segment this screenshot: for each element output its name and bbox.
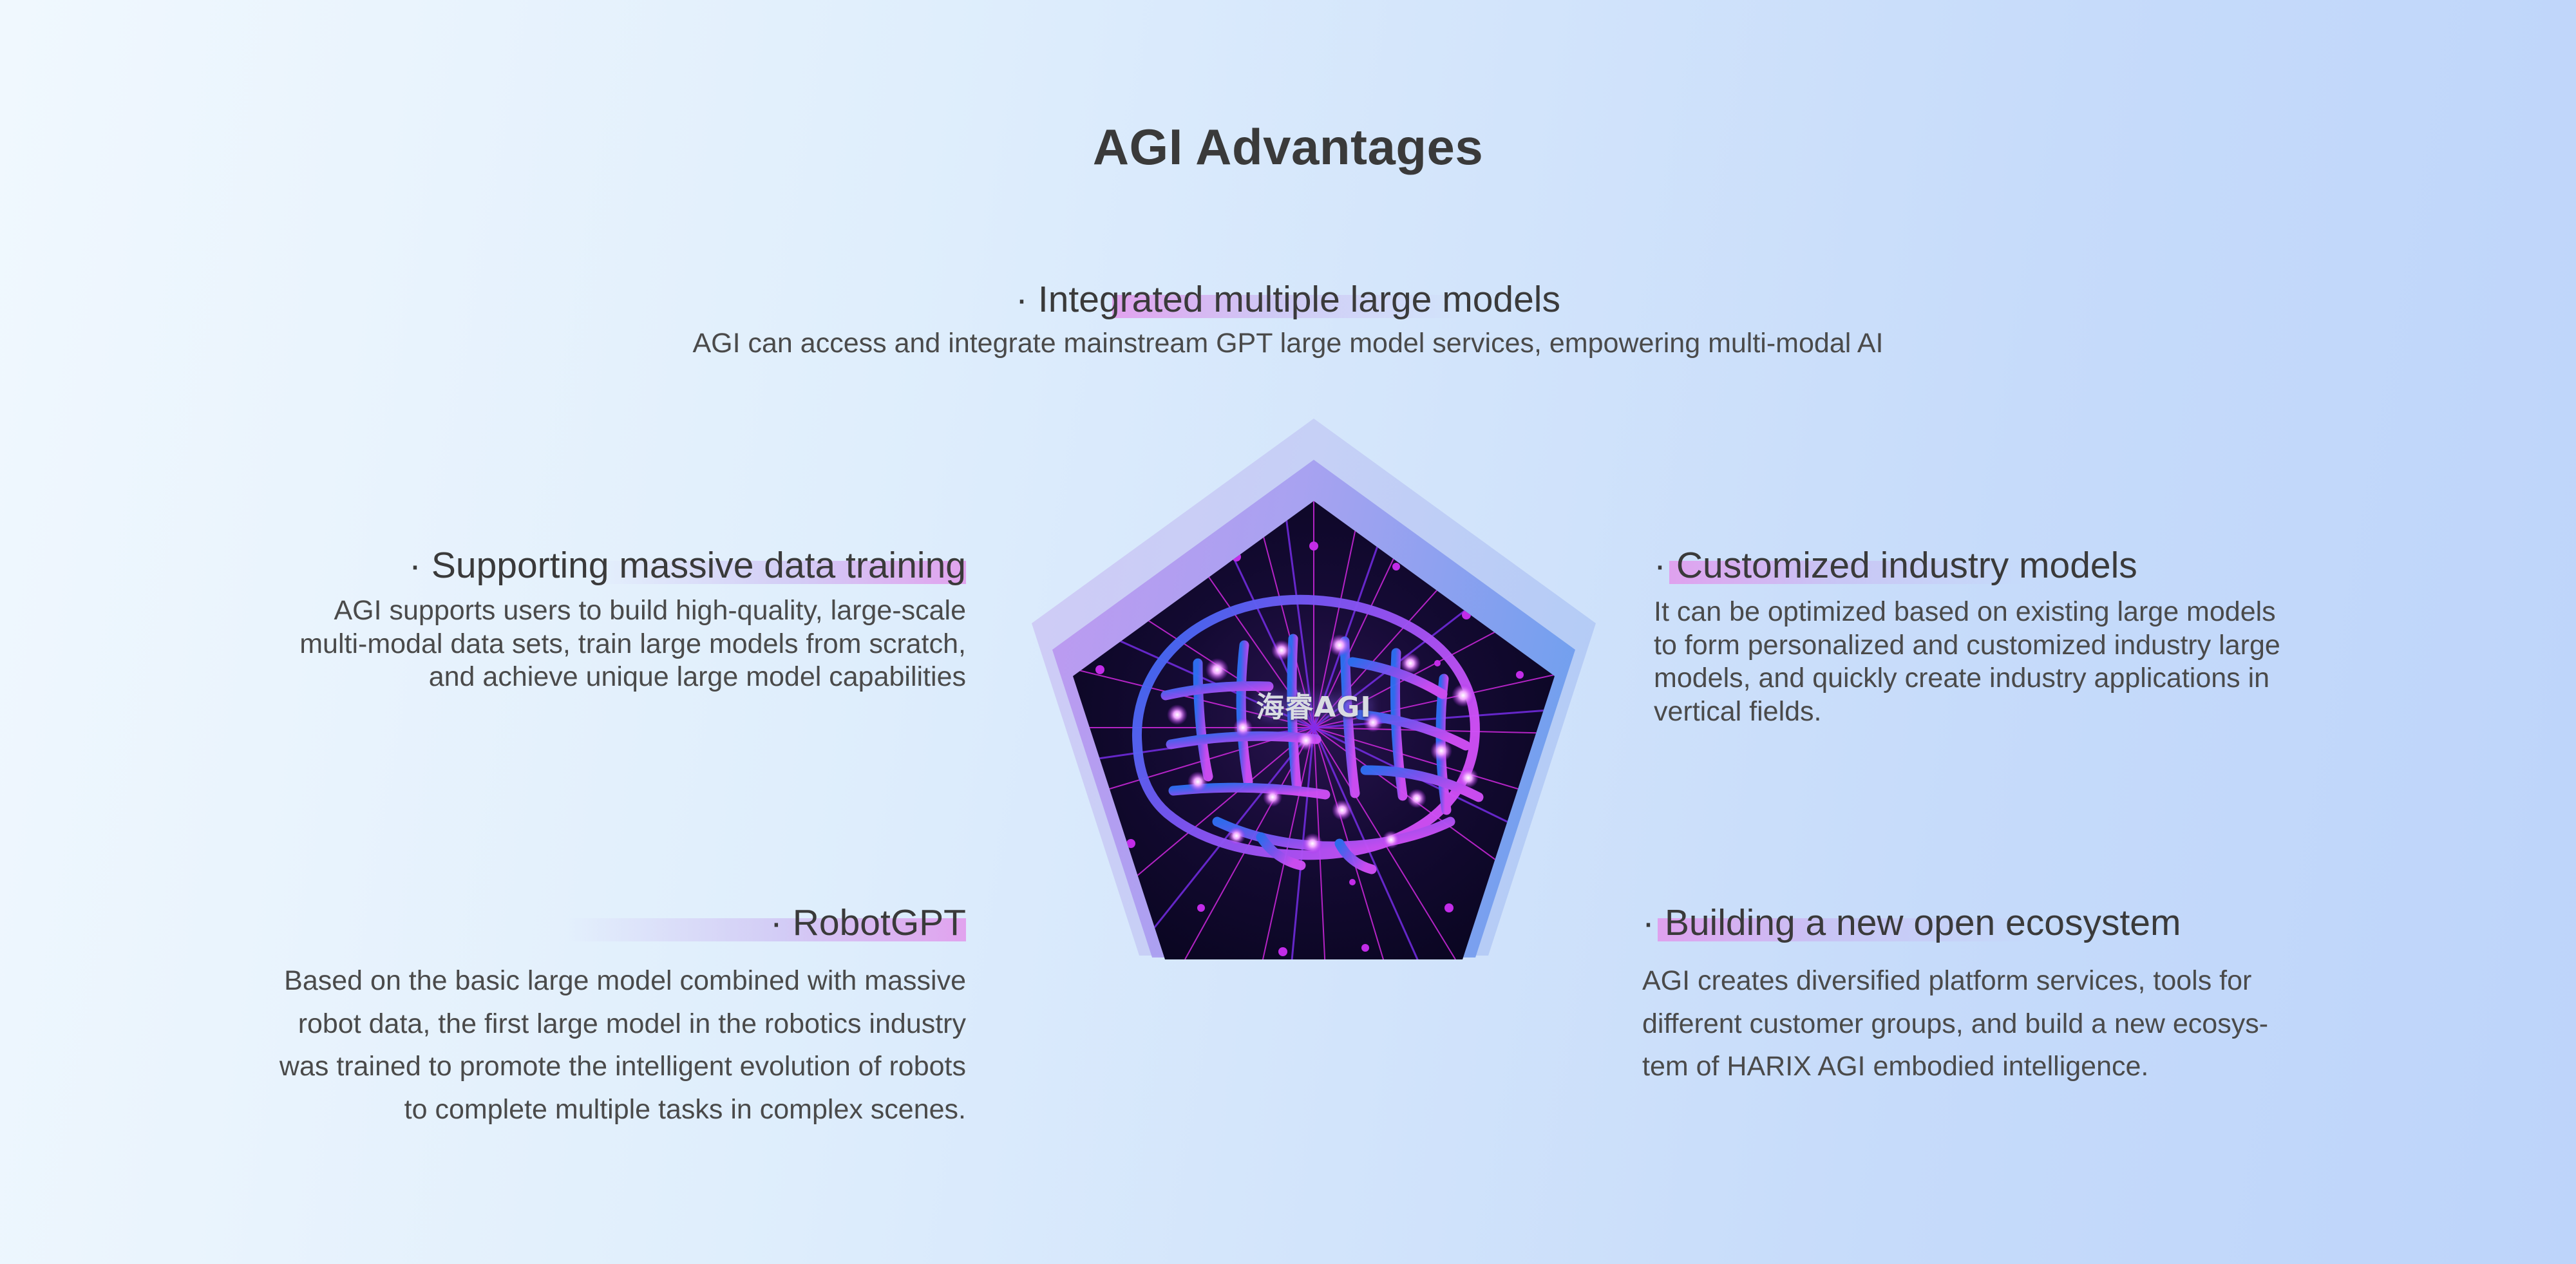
section-body: AGI creates diversified platform service… [1642,959,2505,1088]
section-robotgpt: · RobotGPT Based on the basic large mode… [39,901,966,1131]
body-line: robot data, the first large model in the… [39,1003,966,1046]
body-line: It can be optimized based on existing la… [1654,596,2510,629]
section-heading: · Supporting massive data training [409,544,966,587]
heading-label: Integrated multiple large models [1038,279,1560,320]
body-line: tem of HARIX AGI embodied intelligence. [1642,1045,2505,1088]
body-line: Based on the basic large model combined … [39,959,966,1003]
heading-label: Customized industry models [1676,545,2137,586]
heading-bullet: · [1016,279,1028,320]
pentagon-svg [1005,393,1623,1075]
heading-label: RobotGPT [793,902,966,943]
section-body: AGI can access and integrate mainstream … [0,327,2576,361]
heading-bullet: · [770,902,782,943]
body-line: AGI creates diversified platform service… [1642,959,2505,1003]
section-body: It can be optimized based on existing la… [1654,596,2510,728]
heading-bullet: · [1654,545,1666,586]
agi-logo-text: 海睿AGI [1005,684,1623,725]
body-line: vertical fields. [1654,695,2510,729]
section-building-a-new-open-ecosystem: · Building a new open ecosystem AGI crea… [1642,901,2505,1088]
body-line: to form personalized and customized indu… [1654,629,2510,663]
body-line: AGI supports users to build high-quality… [39,594,966,628]
heading-bullet: · [409,545,421,586]
heading-label: Building a new open ecosystem [1665,902,2181,943]
section-body: AGI supports users to build high-quality… [39,594,966,694]
section-heading: · RobotGPT [770,901,966,944]
body-line: and achieve unique large model capabilit… [39,661,966,694]
section-customized-industry-models: · Customized industry models It can be o… [1654,544,2510,728]
body-line: to complete multiple tasks in complex sc… [39,1088,966,1131]
section-body: Based on the basic large model combined … [39,959,966,1131]
section-integrated-multiple-large-models: · Integrated multiple large models AGI c… [0,278,2576,361]
heading-label: Supporting massive data training [431,545,966,586]
body-line: models, and quickly create industry appl… [1654,662,2510,695]
body-line: multi-modal data sets, train large model… [39,628,966,661]
body-line: was trained to promote the intelligent e… [39,1045,966,1088]
agi-pentagon-graphic: 海睿AGI [1005,393,1623,1075]
section-heading: · Building a new open ecosystem [1642,901,2181,944]
heading-bullet: · [1642,902,1654,943]
body-line: different customer groups, and build a n… [1642,1003,2505,1046]
section-heading: · Integrated multiple large models [1016,278,1560,321]
section-heading: · Customized industry models [1654,544,2137,587]
section-supporting-massive-data-training: · Supporting massive data training AGI s… [39,544,966,694]
page-title: AGI Advantages [0,118,2576,176]
